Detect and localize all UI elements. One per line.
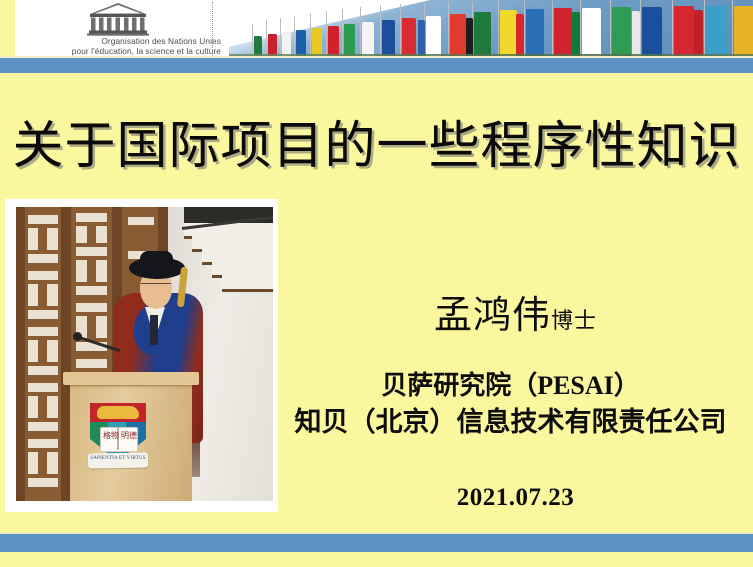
presenter-byline: 孟鸿伟博士 bbox=[278, 293, 753, 339]
unesco-temple-icon bbox=[87, 2, 149, 36]
crest-motto-text: SAPIENTIA ET VIRTUS bbox=[90, 456, 146, 461]
header-left-yellow-strip bbox=[0, 0, 15, 58]
unesco-logo-panel: Organisation des Nations Unies pour l'éd… bbox=[15, 0, 229, 58]
affiliation-block: 贝萨研究院（PESAI） 知贝（北京）信息技术有限责任公司 bbox=[268, 368, 753, 440]
logo-dotted-divider bbox=[212, 2, 213, 56]
crest-book-text-left: 格物 bbox=[103, 431, 119, 440]
presenter-degree: 博士 bbox=[551, 308, 597, 333]
speaker-photo-frame: 格物 明德 SAPIENTIA ET VIRTUS bbox=[5, 199, 278, 512]
flags-banner-photo bbox=[180, 0, 753, 58]
presentation-slide: Organisation des Nations Unies pour l'éd… bbox=[0, 0, 753, 567]
presenter-name: 孟鸿伟 bbox=[434, 295, 551, 337]
photo-tam-crown bbox=[140, 251, 173, 268]
presentation-date: 2021.07.23 bbox=[278, 484, 753, 512]
affiliation-line-2: 知贝（北京）信息技术有限责任公司 bbox=[268, 404, 753, 440]
header-blue-bar bbox=[0, 58, 753, 73]
footer-bottom-strip bbox=[0, 552, 753, 567]
footer-blue-bar bbox=[0, 534, 753, 552]
speaker-photo: 格物 明德 SAPIENTIA ET VIRTUS bbox=[16, 207, 273, 501]
crest-book-text-right: 明德 bbox=[121, 431, 137, 440]
photo-microphone-head bbox=[73, 332, 82, 341]
photo-lectern-top bbox=[63, 372, 199, 385]
slide-title: 关于国际项目的一些程序性知识 bbox=[0, 116, 753, 178]
photo-eyeglasses bbox=[141, 283, 171, 290]
flags-row bbox=[180, 0, 753, 58]
hku-crest: 格物 明德 SAPIENTIA ET VIRTUS bbox=[90, 403, 146, 469]
unesco-caption-line1: Organisation des Nations Unies bbox=[21, 36, 221, 46]
slide-header-banner: Organisation des Nations Unies pour l'éd… bbox=[0, 0, 753, 73]
crest-lion-icon bbox=[97, 406, 139, 419]
photo-stair-5 bbox=[222, 275, 273, 292]
affiliation-line-1: 贝萨研究院（PESAI） bbox=[268, 368, 753, 404]
photo-necktie bbox=[150, 315, 158, 345]
unesco-organization-caption: Organisation des Nations Unies pour l'éd… bbox=[21, 36, 229, 56]
unesco-caption-line2: pour l'éducation, la science et la cultu… bbox=[21, 46, 221, 56]
